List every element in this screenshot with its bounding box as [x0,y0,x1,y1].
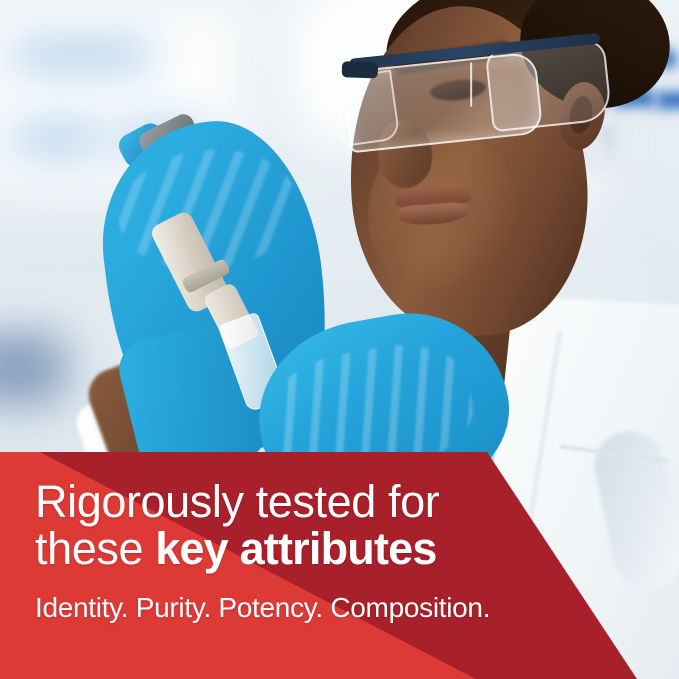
headline-line-2-regular: these [35,523,155,574]
subline: Identity. Purity. Potency. Composition. [35,592,635,624]
glasses-hinge [342,61,379,78]
marketing-banner-image: Rigorously tested for these key attribut… [0,0,679,679]
glasses-bridge [470,63,506,107]
chin-highlight [390,228,486,288]
headline-line-2-bold: key attributes [155,523,436,574]
